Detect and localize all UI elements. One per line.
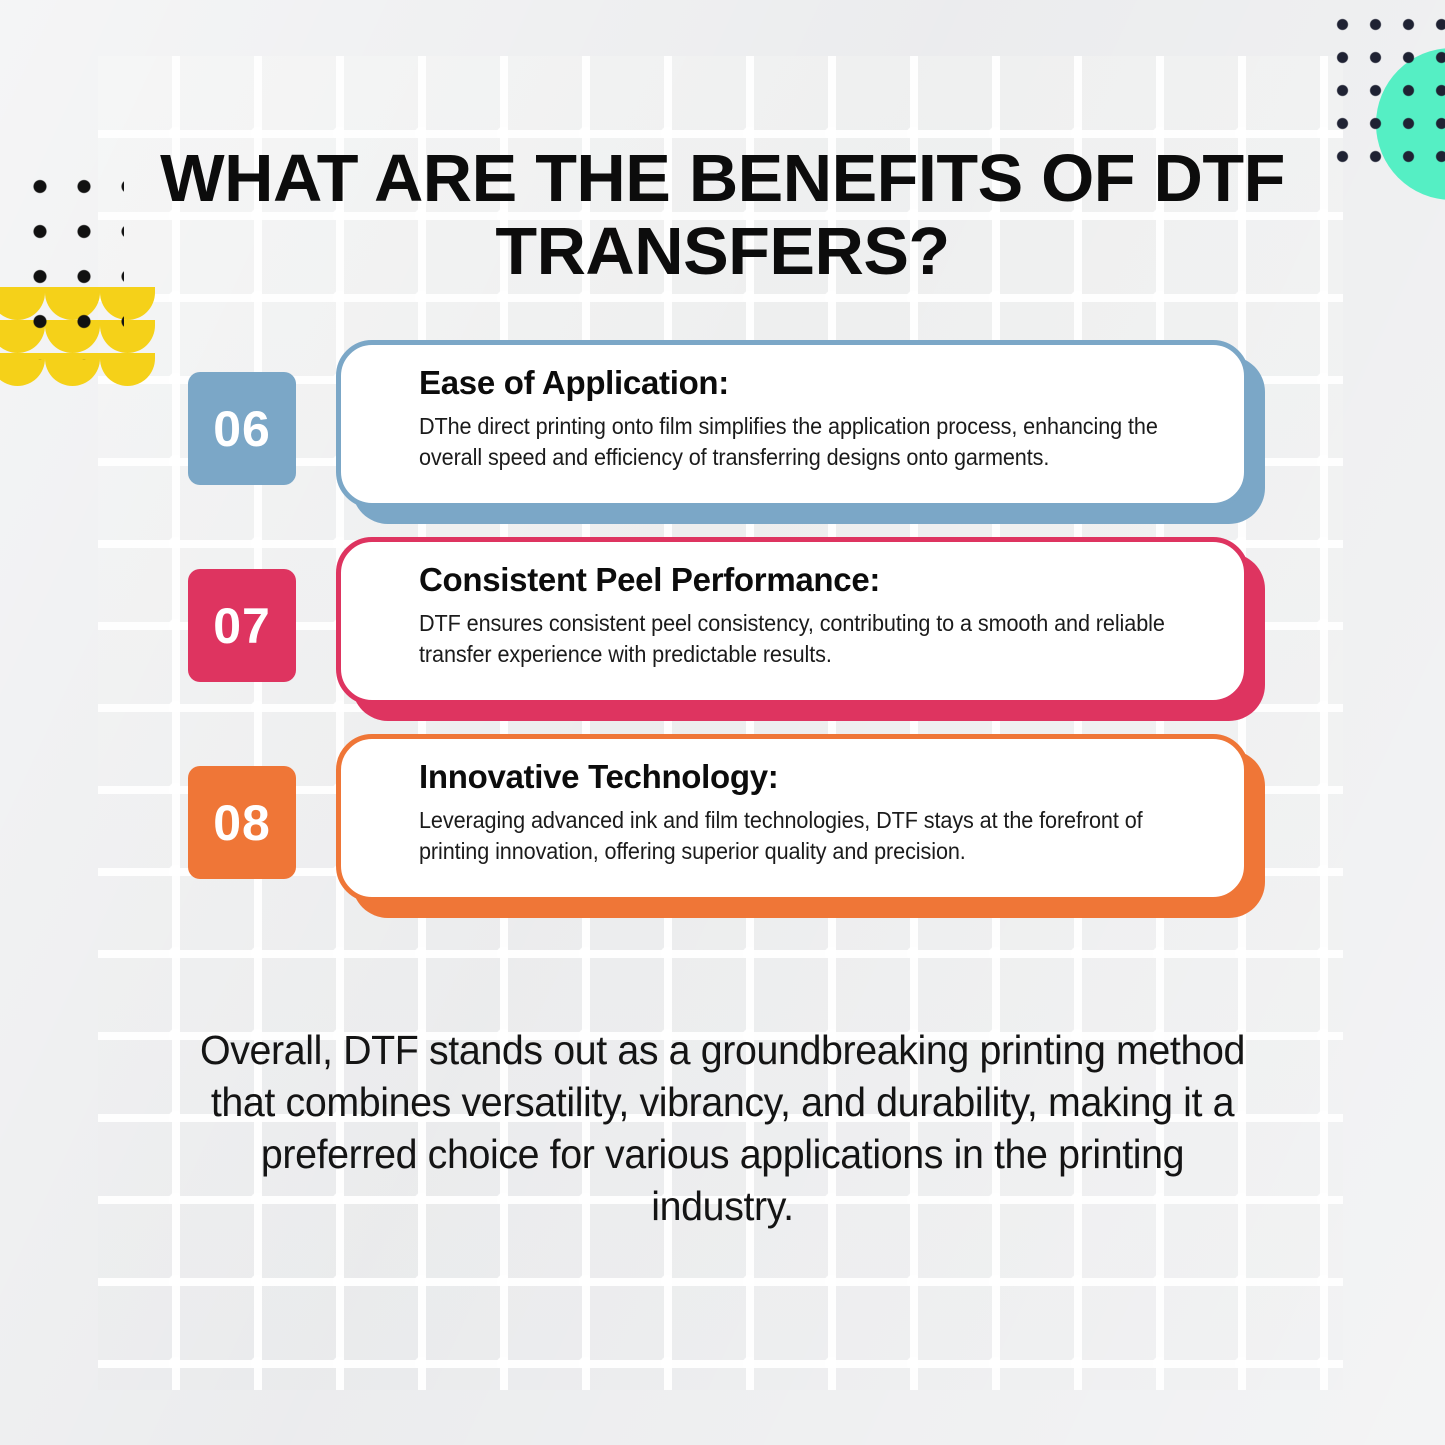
benefit-number-badge: 08 [188, 766, 296, 879]
benefit-card-wrapper: Ease of Application: DThe direct printin… [336, 340, 1249, 508]
benefit-heading: Ease of Application: [419, 363, 1210, 403]
benefit-card: Ease of Application: DThe direct printin… [336, 340, 1249, 508]
benefit-card: Innovative Technology: Leveraging advanc… [336, 734, 1249, 902]
dot-grid-top-right-icon [1322, 0, 1445, 170]
page-title: WHAT ARE THE BENEFITS OF DTF TRANSFERS? [139, 142, 1307, 288]
benefit-heading: Innovative Technology: [419, 757, 1210, 797]
benefit-card-wrapper: Innovative Technology: Leveraging advanc… [336, 734, 1249, 902]
dot-grid-left-icon [14, 160, 124, 360]
benefit-body: DTF ensures consistent peel consistency,… [419, 608, 1207, 670]
benefit-number-badge: 06 [188, 372, 296, 485]
benefit-heading: Consistent Peel Performance: [419, 560, 1210, 600]
infographic-canvas: WHAT ARE THE BENEFITS OF DTF TRANSFERS? … [0, 0, 1445, 1445]
summary-paragraph: Overall, DTF stands out as a groundbreak… [197, 1024, 1248, 1232]
benefit-body: Leveraging advanced ink and film technol… [419, 805, 1207, 867]
benefit-number-badge: 07 [188, 569, 296, 682]
benefit-card-wrapper: Consistent Peel Performance: DTF ensures… [336, 537, 1249, 705]
benefit-body: DThe direct printing onto film simplifie… [419, 411, 1207, 473]
benefit-card: Consistent Peel Performance: DTF ensures… [336, 537, 1249, 705]
